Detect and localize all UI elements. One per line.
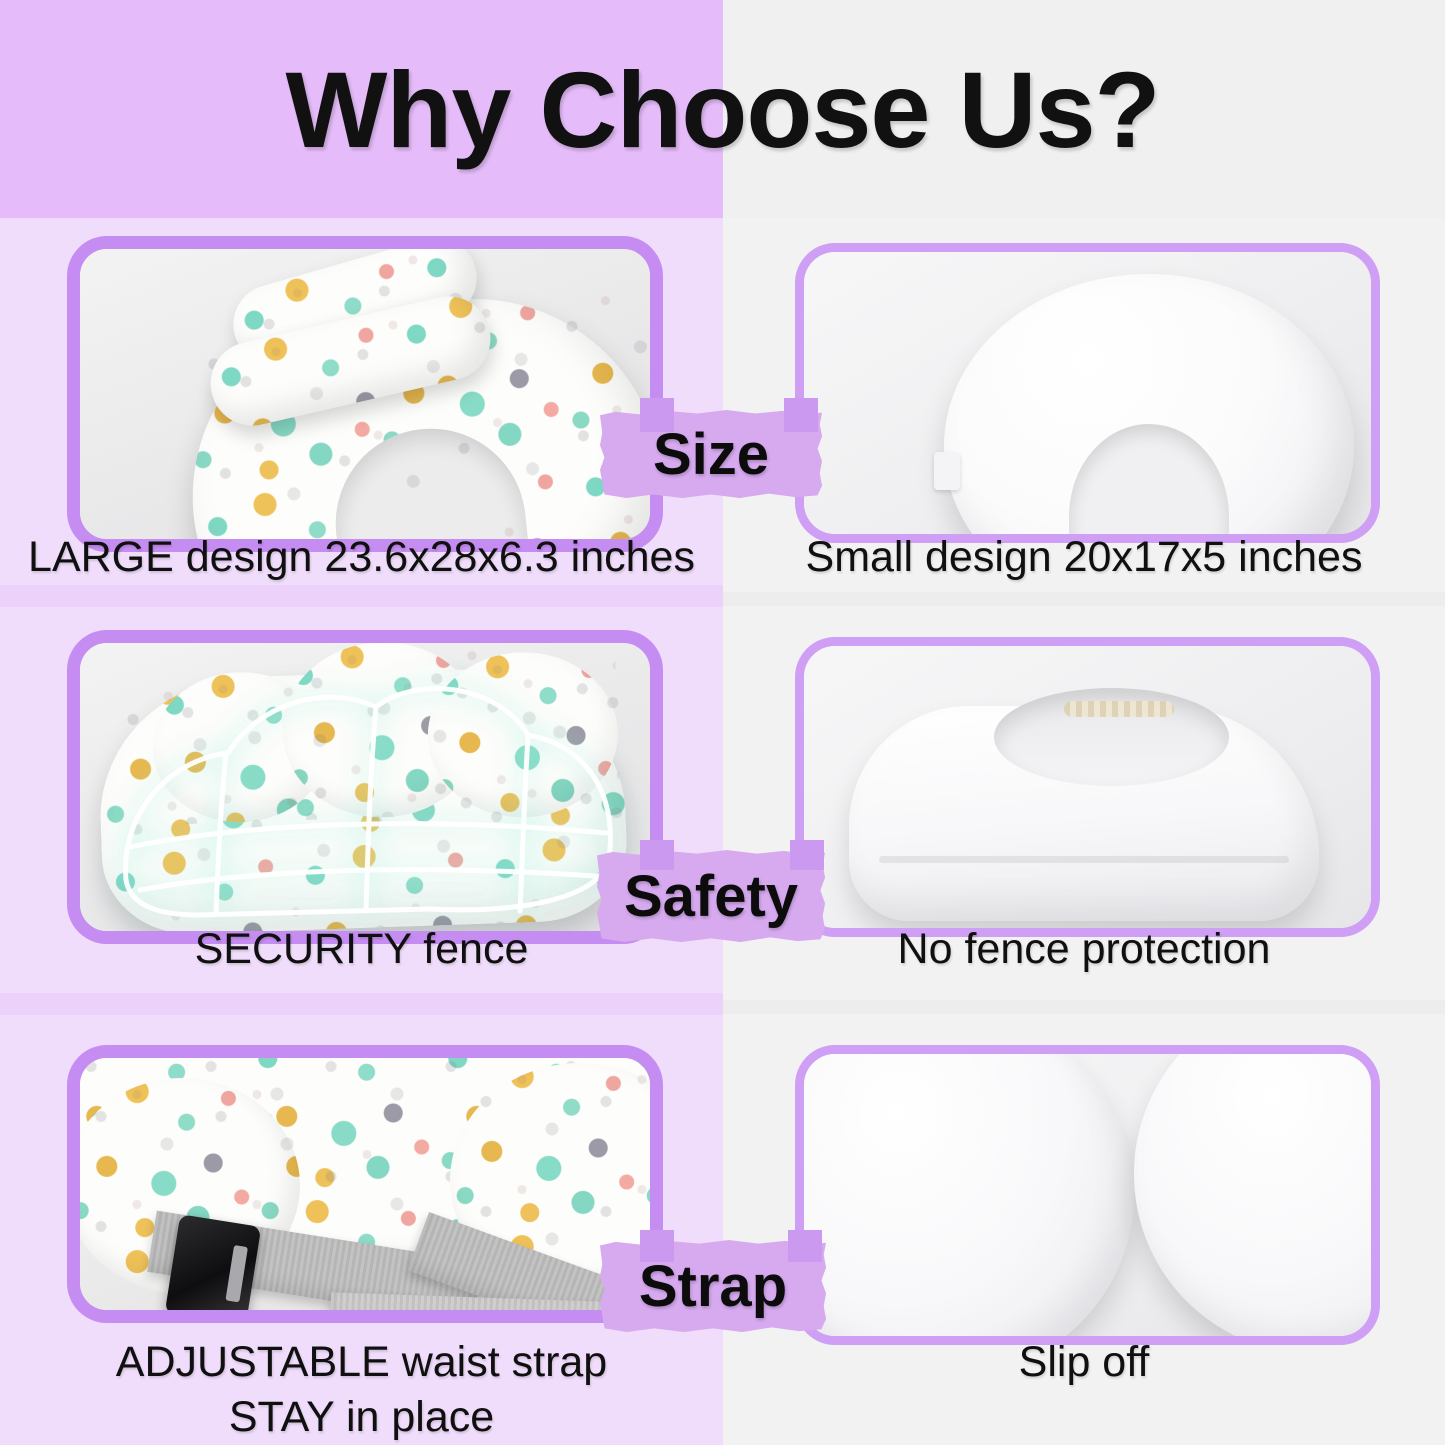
card-ours-size — [67, 236, 663, 552]
cloud-bump-right — [425, 649, 621, 821]
badge-tab-safety-right — [790, 840, 824, 870]
card-theirs-safety — [795, 637, 1380, 937]
photo-small-white-pillow — [804, 252, 1371, 534]
row-separator-right-1 — [723, 592, 1445, 606]
card-ours-safety — [67, 630, 663, 944]
fabric-tag — [934, 452, 960, 490]
pillow-notch — [326, 419, 539, 539]
lounger-bead-line — [1064, 701, 1174, 717]
badge-tab-size-right — [784, 398, 818, 432]
caption-theirs-safety: No fence protection — [723, 922, 1445, 977]
lounger-seam — [879, 856, 1289, 863]
card-theirs-strap — [795, 1045, 1380, 1345]
photo-fence-lounger — [80, 643, 650, 931]
row-separator-left-2 — [0, 993, 723, 1015]
caption-theirs-strap: Slip off — [723, 1335, 1445, 1390]
card-theirs-size — [795, 243, 1380, 543]
infographic-page: Why Choose Us? LARGE design 23.6x28x6.3 … — [0, 0, 1445, 1445]
plain-lounger-shape — [849, 706, 1319, 921]
row-separator-left-1 — [0, 585, 723, 607]
badge-tab-strap-left — [640, 1230, 674, 1262]
white-lobe-right — [1134, 1054, 1371, 1336]
donut-pillow-shape — [944, 274, 1354, 534]
row-separator-right-2 — [723, 1000, 1445, 1014]
cloud-lounger-shape — [96, 664, 630, 931]
caption-ours-size: LARGE design 23.6x28x6.3 inches — [0, 530, 723, 585]
white-lobe-left — [804, 1054, 1134, 1336]
badge-tab-safety-left — [640, 840, 674, 870]
caption-theirs-size: Small design 20x17x5 inches — [723, 530, 1445, 585]
photo-slip-off — [804, 1054, 1371, 1336]
donut-hole — [1069, 424, 1229, 534]
cloud-bump-center — [280, 643, 486, 821]
badge-tab-size-left — [640, 398, 674, 432]
photo-waist-strap — [80, 1058, 650, 1310]
badge-tab-strap-right — [788, 1230, 822, 1262]
caption-ours-strap: ADJUSTABLE waist strap STAY in place — [0, 1335, 723, 1445]
strap-buckle — [165, 1214, 262, 1310]
card-ours-strap — [67, 1045, 663, 1323]
page-title: Why Choose Us? — [0, 48, 1445, 172]
photo-plain-lounger — [804, 646, 1371, 928]
photo-large-dino-pillow — [80, 249, 650, 539]
cloud-bump-left — [151, 669, 331, 825]
